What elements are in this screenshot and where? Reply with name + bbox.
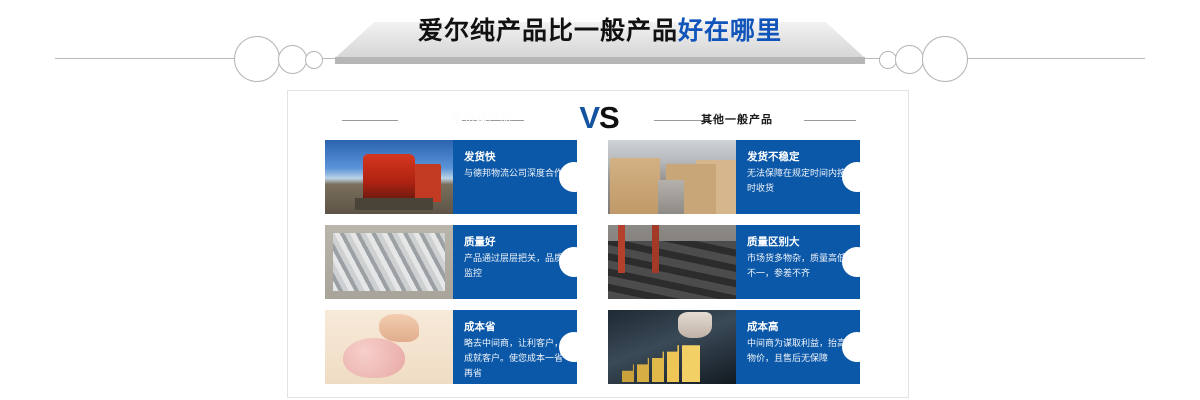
steel-tubes-photo	[325, 225, 453, 299]
header-rail-left	[55, 58, 235, 59]
card-right-1[interactable]: 发货不稳定 无法保障在规定时间内按时收货	[608, 140, 860, 214]
card-right-3-title: 成本高	[747, 319, 851, 334]
page-header: 爱尔纯产品比一般产品好在哪里	[0, 0, 1200, 86]
card-left-3-panel: 成本省 略去中间商，让利客户，成就客户。使您成本一省再省	[453, 310, 577, 384]
vs-letter-s: S	[599, 100, 619, 135]
left-column-label: 爱尔纯产品	[387, 111, 577, 127]
card-right-1-desc: 无法保障在规定时间内按时收货	[747, 167, 849, 197]
card-right-3-desc: 中间商为谋取利益，抬高物价，且售后无保障	[747, 337, 849, 367]
truck-on-highway-photo	[325, 140, 453, 214]
decor-circle-large-right	[922, 36, 968, 82]
card-left-2[interactable]: 质量好 产品通过层层把关，品质监控	[325, 225, 577, 299]
card-left-1[interactable]: 发货快 与德邦物流公司深度合作	[325, 140, 577, 214]
decor-circle-medium-right	[895, 45, 924, 74]
card-left-3-title: 成本省	[464, 319, 568, 334]
card-left-1-title: 发货快	[464, 149, 568, 164]
page-title: 爱尔纯产品比一般产品好在哪里	[335, 14, 865, 48]
decor-circle-large-left	[234, 36, 280, 82]
card-left-3[interactable]: 成本省 略去中间商，让利客户，成就客户。使您成本一省再省	[325, 310, 577, 384]
card-left-1-notch-icon	[559, 162, 577, 192]
card-left-2-title: 质量好	[464, 234, 568, 249]
card-left-2-desc: 产品通过层层把关，品质监控	[464, 252, 566, 282]
page-title-main: 爱尔纯产品比一般产品	[418, 16, 678, 45]
card-right-3-panel: 成本高 中间商为谋取利益，抬高物价，且售后无保障	[736, 310, 860, 384]
vs-badge: VS	[568, 98, 630, 138]
right-column-label: 其他一般产品	[642, 111, 832, 127]
vs-divider-line-4	[804, 120, 856, 121]
card-right-1-panel: 发货不稳定 无法保障在规定时间内按时收货	[736, 140, 860, 214]
card-right-2[interactable]: 质量区别大 市场货多物杂，质量高低不一，参差不齐	[608, 225, 860, 299]
black-pipes-stack-photo	[608, 225, 736, 299]
card-right-2-title: 质量区别大	[747, 234, 851, 249]
vs-letter-v: V	[579, 100, 599, 135]
card-right-3[interactable]: 成本高 中间商为谋取利益，抬高物价，且售后无保障	[608, 310, 860, 384]
page-title-accent: 好在哪里	[678, 16, 782, 45]
card-left-3-desc: 略去中间商，让利客户，成就客户。使您成本一省再省	[464, 337, 566, 382]
header-rail-right	[965, 58, 1145, 59]
card-left-1-desc: 与德邦物流公司深度合作	[464, 167, 566, 182]
card-right-2-panel: 质量区别大 市场货多物杂，质量高低不一，参差不齐	[736, 225, 860, 299]
page-root: 爱尔纯产品比一般产品好在哪里 爱尔纯产品 VS 其他一般产品 发货快 与德邦物流…	[0, 0, 1200, 400]
warehouse-boxes-photo	[608, 140, 736, 214]
column-other-products: 发货不稳定 无法保障在规定时间内按时收货 质量区别大 市场货多物杂，质量高低不一…	[608, 140, 860, 384]
card-left-2-panel: 质量好 产品通过层层把关，品质监控	[453, 225, 577, 299]
hand-stacking-gold-coins-photo	[608, 310, 736, 384]
card-right-1-title: 发货不稳定	[747, 149, 851, 164]
comparison-grid: 发货快 与德邦物流公司深度合作 质量好 产品通过层层把关，品质监控 成本省 略去…	[325, 140, 871, 384]
card-left-1-panel: 发货快 与德邦物流公司深度合作	[453, 140, 577, 214]
title-plate-edge	[335, 57, 865, 64]
decor-circle-medium-left	[278, 45, 307, 74]
card-right-2-desc: 市场货多物杂，质量高低不一，参差不齐	[747, 252, 849, 282]
column-our-products: 发货快 与德邦物流公司深度合作 质量好 产品通过层层把关，品质监控 成本省 略去…	[325, 140, 577, 384]
vs-header-row: 爱尔纯产品 VS 其他一般产品	[287, 100, 909, 140]
decor-circle-small-left	[305, 51, 323, 69]
piggy-bank-coin-photo	[325, 310, 453, 384]
